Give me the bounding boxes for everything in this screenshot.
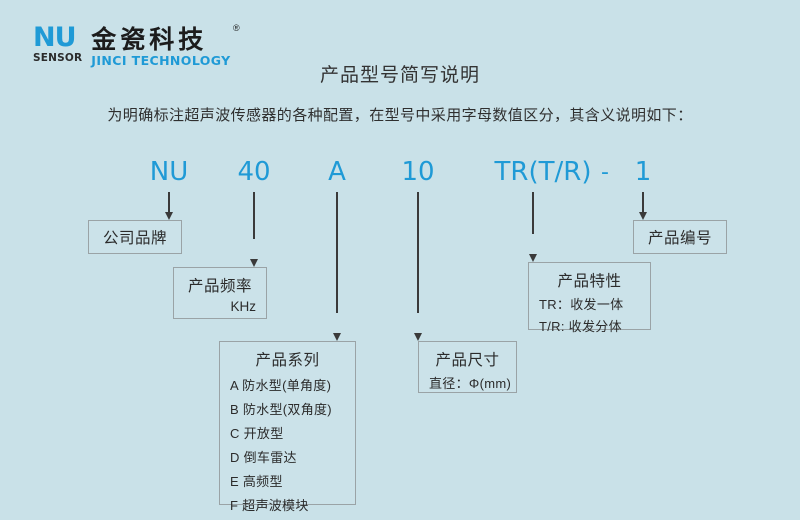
connector-arrowhead-number: [639, 212, 647, 220]
connector-line-brand: [168, 192, 170, 214]
legend-box-characteristic-title: 产品特性: [539, 269, 640, 291]
connector-line-series: [336, 192, 338, 313]
list-item: C 开放型: [230, 423, 345, 442]
logo-mark: NU SENSOR: [33, 26, 82, 63]
legend-box-series-title: 产品系列: [230, 348, 345, 370]
page-subtitle: 为明确标注超声波传感器的各种配置，在型号中采用字母数值区分，其含义说明如下：: [0, 104, 800, 125]
list-item: D 倒车雷达: [230, 447, 345, 466]
code-segment-dash: -: [601, 160, 609, 185]
connector-arrowhead-series: [333, 333, 341, 341]
registered-trademark-icon: ®: [233, 24, 240, 33]
legend-box-size: 产品尺寸 直径：Φ(mm): [418, 341, 517, 393]
code-segment-size: 10: [401, 157, 434, 187]
logo-mark-text: NU: [33, 26, 82, 51]
list-item: F 超声波模块: [230, 495, 345, 514]
page-title: 产品型号简写说明: [0, 60, 800, 87]
logo-company-cn: 金瓷科技: [91, 25, 207, 54]
legend-box-product-number: 产品编号: [633, 220, 727, 254]
connector-arrowhead-brand: [165, 212, 173, 220]
legend-box-brand-title: 公司品牌: [103, 226, 167, 248]
legend-box-size-detail: 直径：Φ(mm): [429, 373, 506, 392]
code-segment-frequency: 40: [237, 157, 270, 187]
connector-line-number: [642, 192, 644, 214]
connector-line-characteristic: [532, 192, 534, 234]
list-item: E 高频型: [230, 471, 345, 490]
connector-line-size: [417, 192, 419, 313]
code-segment-characteristic: TR(T/R): [495, 157, 592, 187]
legend-box-brand: 公司品牌: [88, 220, 182, 254]
legend-box-size-title: 产品尺寸: [429, 348, 506, 370]
legend-box-product-number-title: 产品编号: [648, 226, 712, 248]
legend-box-frequency: 产品频率 KHz: [173, 267, 267, 319]
legend-box-characteristic: 产品特性 TR：收发一体 T/R: 收发分体: [528, 262, 651, 330]
connector-arrowhead-size: [414, 333, 422, 341]
legend-box-series-list: A 防水型(单角度) B 防水型(双角度) C 开放型 D 倒车雷达 E 高频型…: [230, 375, 345, 514]
connector-arrowhead-characteristic: [529, 254, 537, 262]
diagram-canvas: NU SENSOR 金瓷科技 ® JINCI TECHNOLOGY 产品型号简写…: [0, 0, 800, 520]
connector-arrowhead-frequency: [250, 259, 258, 267]
code-segment-series: A: [328, 157, 346, 187]
list-item: B 防水型(双角度): [230, 399, 345, 418]
legend-box-frequency-unit: KHz: [184, 299, 256, 314]
legend-box-characteristic-line1: TR：收发一体: [539, 294, 640, 313]
logo-company-cn-wrap: 金瓷科技 ®: [91, 27, 230, 52]
legend-box-series: 产品系列 A 防水型(单角度) B 防水型(双角度) C 开放型 D 倒车雷达 …: [219, 341, 356, 505]
code-segment-brand: NU: [150, 157, 188, 187]
legend-box-characteristic-line2: T/R: 收发分体: [539, 316, 640, 335]
legend-box-frequency-title: 产品频率: [184, 274, 256, 296]
code-segment-number: 1: [635, 157, 652, 187]
connector-line-frequency: [253, 192, 255, 239]
list-item: A 防水型(单角度): [230, 375, 345, 394]
